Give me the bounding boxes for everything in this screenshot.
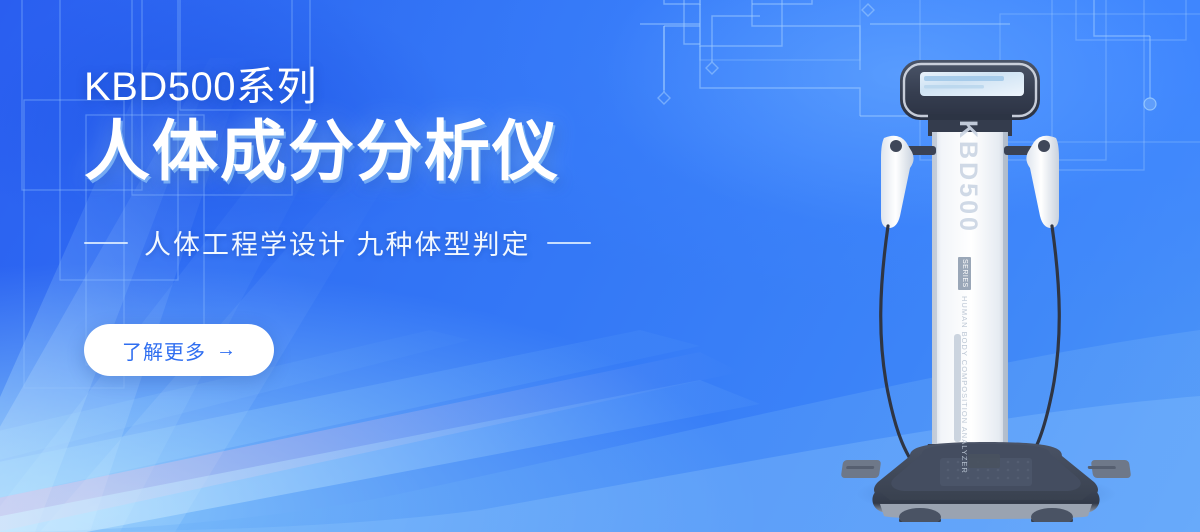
learn-more-button[interactable]: 了解更多 → bbox=[84, 324, 274, 376]
dash-right-icon bbox=[547, 242, 591, 244]
body-composition-analyzer-image: KBD500 SERIES HUMAN BODY COMPOSITION ANA… bbox=[836, 42, 1136, 522]
learn-more-label: 了解更多 bbox=[122, 336, 206, 365]
hero-banner: KBD500系列 人体成分分析仪 人体工程学设计 九种体型判定 了解更多 → bbox=[0, 0, 1200, 532]
device-description-label: HUMAN BODY COMPOSITION ANALYZER bbox=[960, 296, 969, 474]
eyebrow-text: KBD500系列 bbox=[84, 66, 704, 109]
device-illustration bbox=[836, 42, 1136, 522]
device-series-badge: SERIES bbox=[958, 257, 971, 290]
subtitle-text: 人体工程学设计 九种体型判定 bbox=[144, 223, 531, 262]
hero-copy: KBD500系列 人体成分分析仪 人体工程学设计 九种体型判定 了解更多 → bbox=[84, 66, 704, 376]
arrow-right-icon: → bbox=[216, 340, 236, 360]
page-title: 人体成分分析仪 bbox=[84, 115, 704, 189]
device-brand-label: KBD500 bbox=[956, 120, 982, 234]
subtitle-row: 人体工程学设计 九种体型判定 bbox=[84, 223, 704, 262]
dash-left-icon bbox=[84, 242, 128, 244]
